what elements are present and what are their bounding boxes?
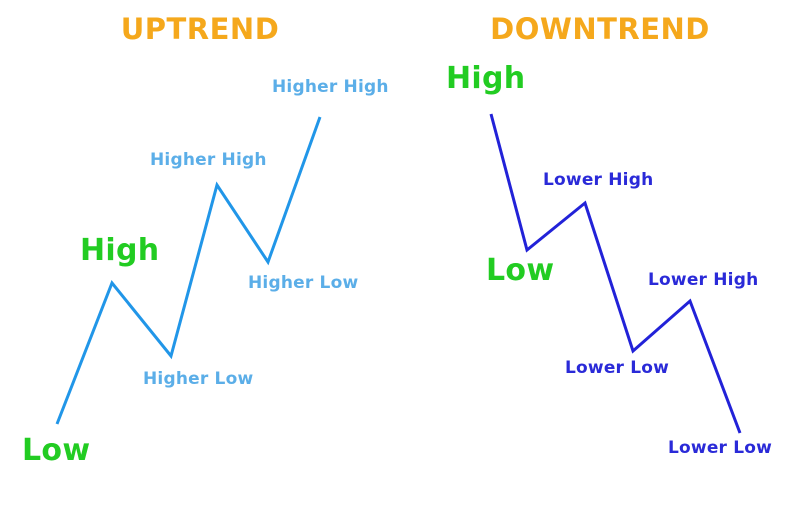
uptrend-label-high-anchor: High xyxy=(80,236,159,266)
downtrend-label-low-anchor: Low xyxy=(486,256,554,286)
downtrend-label-lower-low-second: Lower Low xyxy=(668,440,772,457)
downtrend-title: DOWNTREND xyxy=(400,12,800,46)
uptrend-label-higher-high-second: Higher High xyxy=(272,79,389,96)
uptrend-title: UPTREND xyxy=(0,12,400,46)
uptrend-label-higher-low-second: Higher Low xyxy=(248,275,358,292)
downtrend-label-lower-high-first: Lower High xyxy=(543,172,653,189)
diagram-canvas: UPTREND DOWNTREND LowHighHigher LowHighe… xyxy=(0,0,800,512)
uptrend-label-higher-low-first: Higher Low xyxy=(143,371,253,388)
uptrend-label-low-anchor: Low xyxy=(22,436,90,466)
downtrend-label-lower-high-second: Lower High xyxy=(648,272,758,289)
downtrend-label-lower-low-first: Lower Low xyxy=(565,360,669,377)
downtrend-label-high-anchor: High xyxy=(446,64,525,94)
uptrend-label-higher-high-first: Higher High xyxy=(150,152,267,169)
